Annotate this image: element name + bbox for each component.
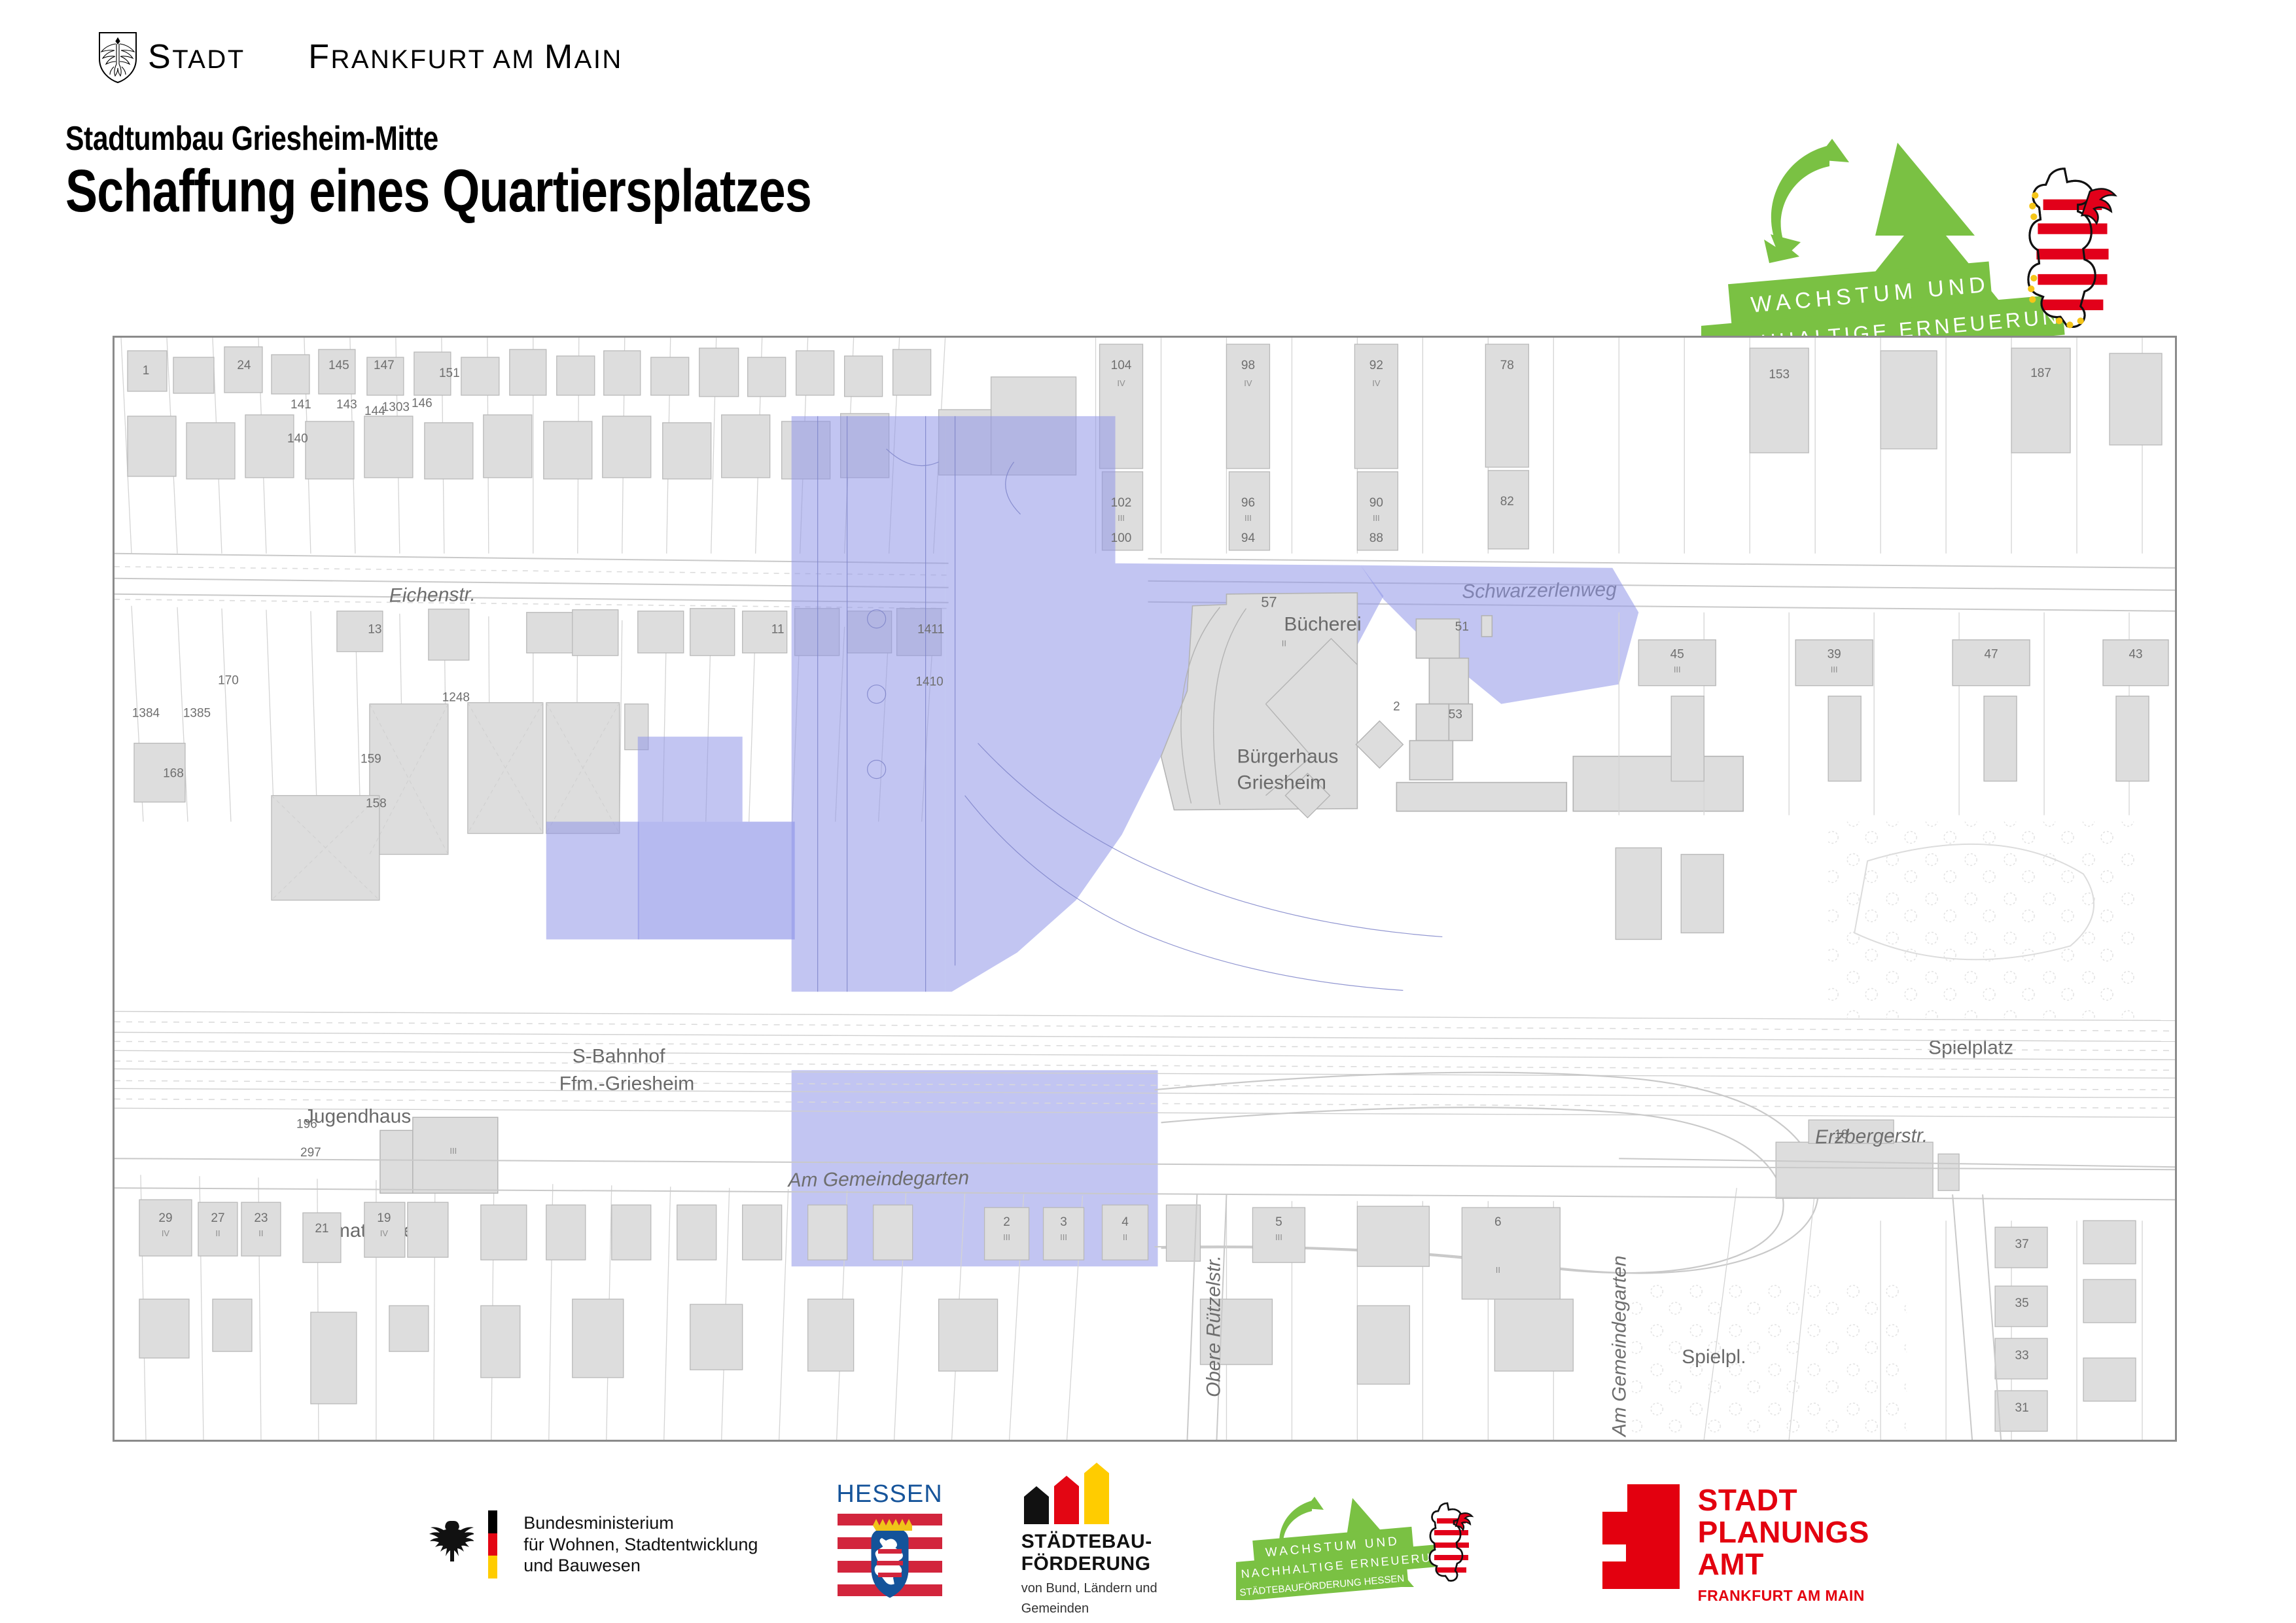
svg-text:1303: 1303 xyxy=(382,401,410,414)
footer-logos: Bundesministerium für Wohnen, Stadtentwi… xyxy=(0,1476,2296,1613)
svg-text:29: 29 xyxy=(158,1211,172,1225)
svg-text:III: III xyxy=(1003,1232,1010,1242)
stadt-frankfurt-wordmark: STADT FRANKFURT AM MAIN xyxy=(148,37,623,77)
staedtebau-sub-1: von Bund, Ländern und xyxy=(1021,1580,1157,1596)
staedtebau-line-2: FÖRDERUNG xyxy=(1021,1553,1151,1576)
svg-text:II: II xyxy=(1496,1265,1500,1275)
svg-text:45: 45 xyxy=(1670,648,1684,662)
svg-text:31: 31 xyxy=(2015,1401,2029,1415)
svg-text:1385: 1385 xyxy=(183,707,211,721)
svg-text:159: 159 xyxy=(361,753,381,766)
svg-text:5: 5 xyxy=(1275,1215,1282,1229)
poi-label-sbahnhof: S-Bahnhof xyxy=(573,1045,665,1067)
svg-text:147: 147 xyxy=(374,359,395,372)
svg-text:18: 18 xyxy=(1835,1128,1848,1141)
svg-text:24: 24 xyxy=(237,359,251,372)
svg-text:144: 144 xyxy=(364,404,385,418)
svg-text:196: 196 xyxy=(296,1117,317,1131)
svg-text:104: 104 xyxy=(1111,359,1132,372)
svg-text:158: 158 xyxy=(366,797,387,811)
svg-text:3: 3 xyxy=(1060,1215,1067,1229)
svg-text:98: 98 xyxy=(1241,359,1255,372)
staedtebau-line-1: STÄDTEBAU- xyxy=(1021,1531,1152,1554)
svg-text:141: 141 xyxy=(291,398,311,412)
svg-text:III: III xyxy=(1275,1232,1282,1242)
bmwsb-logo: Bundesministerium für Wohnen, Stadtentwi… xyxy=(427,1510,758,1578)
svg-text:1411: 1411 xyxy=(917,623,944,637)
spa-line-2: PLANUNGS xyxy=(1698,1516,1869,1548)
svg-text:23: 23 xyxy=(254,1211,268,1225)
hessen-logo: HESSEN xyxy=(836,1480,942,1609)
page-title: Schaffung eines Quartiersplatzes xyxy=(65,157,811,226)
bmwsb-line-2: für Wohnen, Stadtentwicklung xyxy=(523,1534,758,1556)
svg-text:III: III xyxy=(1060,1232,1067,1242)
three-houses-icon xyxy=(1024,1473,1109,1524)
svg-text:88: 88 xyxy=(1369,531,1383,545)
svg-text:III: III xyxy=(1245,513,1252,523)
svg-text:21: 21 xyxy=(315,1222,328,1236)
poi-label-spielpl: Spielpl. xyxy=(1682,1346,1746,1368)
poi-label-buergerhaus: Bürgerhaus xyxy=(1237,746,1338,768)
poi-label-griesheim: Griesheim xyxy=(1237,772,1326,794)
svg-text:III: III xyxy=(1831,665,1838,675)
subtitle: Stadtumbau Griesheim-Mitte xyxy=(65,119,438,158)
svg-text:1384: 1384 xyxy=(132,707,160,721)
street-label-am-gemeindegarten-vertical: Am Gemeindegarten xyxy=(1608,1256,1630,1438)
staedtebau-sub-2: Gemeinden xyxy=(1021,1601,1089,1616)
house-number: 51 xyxy=(1455,620,1469,634)
poi-label-buecherei: Bücherei xyxy=(1284,614,1361,635)
svg-text:78: 78 xyxy=(1500,359,1514,372)
stadtplanungsamt-text: STADT PLANUNGS AMT FRANKFURT AM MAIN xyxy=(1698,1484,1869,1604)
svg-text:19: 19 xyxy=(377,1211,391,1225)
stadtplanungsamt-logo: STADT PLANUNGS AMT FRANKFURT AM MAIN xyxy=(1596,1484,1869,1604)
hessen-wordmark: HESSEN xyxy=(836,1480,942,1508)
spa-line-1: STADT xyxy=(1698,1484,1869,1516)
street-label-erzbergerstr: Erzbergerstr. xyxy=(1815,1125,1928,1148)
cadastral-map[interactable]: Eichenstr. Schwarzerlenweg xyxy=(113,336,2177,1442)
svg-text:47: 47 xyxy=(1985,648,1998,662)
svg-text:153: 153 xyxy=(1769,368,1790,382)
svg-text:90: 90 xyxy=(1369,496,1383,510)
svg-text:37: 37 xyxy=(2015,1238,2029,1251)
svg-text:92: 92 xyxy=(1369,359,1383,372)
svg-text:2: 2 xyxy=(1003,1215,1010,1229)
svg-text:187: 187 xyxy=(2030,366,2051,380)
bmwsb-line-1: Bundesministerium xyxy=(523,1512,758,1534)
street-label-am-gemeindegarten: Am Gemeindegarten xyxy=(786,1167,969,1191)
svg-text:11: 11 xyxy=(771,623,785,637)
svg-text:1: 1 xyxy=(143,364,150,378)
street-label-eichenstr: Eichenstr. xyxy=(389,584,476,607)
stadtplanungsamt-mark-icon xyxy=(1596,1484,1680,1589)
svg-text:27: 27 xyxy=(211,1211,224,1225)
bundesadler-icon xyxy=(427,1517,474,1572)
svg-text:146: 146 xyxy=(412,397,433,410)
poi-label-jugendhaus: Jugendhaus xyxy=(304,1105,411,1127)
poster-page: STADT FRANKFURT AM MAIN Stadtumbau Gries… xyxy=(0,0,2296,1623)
svg-text:143: 143 xyxy=(336,398,357,412)
svg-text:168: 168 xyxy=(163,767,184,781)
spa-line-3: AMT xyxy=(1698,1548,1869,1580)
svg-text:13: 13 xyxy=(368,623,381,637)
svg-text:III: III xyxy=(450,1146,457,1156)
svg-text:IV: IV xyxy=(1117,378,1125,388)
house-number: 53 xyxy=(1449,708,1462,722)
svg-text:39: 39 xyxy=(1828,648,1841,662)
poi-label-sbahnhof-station: Ffm.-Griesheim xyxy=(559,1073,694,1094)
svg-text:1410: 1410 xyxy=(915,675,943,689)
svg-text:140: 140 xyxy=(287,432,308,446)
svg-text:297: 297 xyxy=(300,1146,321,1160)
svg-text:IV: IV xyxy=(162,1228,170,1238)
hessen-coat-of-arms-icon xyxy=(838,1511,942,1609)
svg-text:151: 151 xyxy=(439,366,460,380)
german-flag-bar xyxy=(488,1510,497,1578)
staedtebaufoerderung-logo: STÄDTEBAU- FÖRDERUNG von Bund, Ländern u… xyxy=(1021,1473,1157,1616)
hessen-lion-small-icon xyxy=(1430,1503,1472,1581)
bmwsb-text: Bundesministerium für Wohnen, Stadtentwi… xyxy=(523,1512,758,1577)
stadt-frankfurt-logo: STADT FRANKFURT AM MAIN xyxy=(97,30,623,84)
house-number: 57 xyxy=(1261,594,1277,611)
svg-text:4: 4 xyxy=(1122,1215,1129,1229)
svg-text:III: III xyxy=(1373,513,1380,523)
svg-text:82: 82 xyxy=(1500,495,1514,508)
frankfurt-eagle-crest-icon xyxy=(97,30,139,84)
svg-text:100: 100 xyxy=(1111,531,1132,545)
svg-text:II: II xyxy=(215,1228,220,1238)
hessen-lion-icon xyxy=(2028,169,2115,329)
svg-text:II: II xyxy=(1123,1232,1127,1242)
svg-text:II: II xyxy=(1282,639,1286,649)
svg-text:94: 94 xyxy=(1241,531,1255,545)
svg-text:145: 145 xyxy=(328,359,349,372)
svg-text:6: 6 xyxy=(1494,1215,1502,1229)
svg-text:33: 33 xyxy=(2015,1349,2029,1363)
svg-text:43: 43 xyxy=(2128,648,2142,662)
spa-subline: FRANKFURT AM MAIN xyxy=(1698,1587,1869,1605)
svg-text:1248: 1248 xyxy=(442,691,470,705)
svg-text:II: II xyxy=(258,1228,263,1238)
svg-text:IV: IV xyxy=(380,1228,389,1238)
bmwsb-line-3: und Bauwesen xyxy=(523,1555,758,1577)
svg-text:IV: IV xyxy=(1372,378,1381,388)
wachstum-erneuerung-logo-small: WACHSTUM UND NACHHALTIGE ERNEUERUNG STÄD… xyxy=(1236,1489,1517,1600)
svg-text:35: 35 xyxy=(2015,1296,2029,1310)
street-label-obere-ruetzelstr: Obere Rützelstr. xyxy=(1203,1255,1224,1397)
svg-text:96: 96 xyxy=(1241,496,1255,510)
svg-text:III: III xyxy=(1674,665,1681,675)
svg-text:III: III xyxy=(1118,513,1125,523)
svg-text:2: 2 xyxy=(1393,700,1400,714)
svg-text:IV: IV xyxy=(1244,378,1252,388)
svg-text:170: 170 xyxy=(218,674,239,688)
svg-text:102: 102 xyxy=(1111,496,1132,510)
